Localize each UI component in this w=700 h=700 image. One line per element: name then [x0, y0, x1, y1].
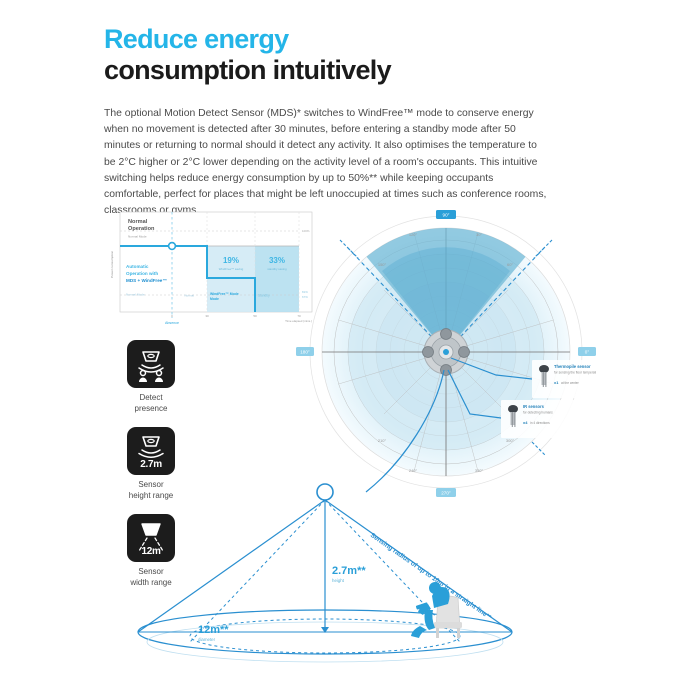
chart-subtitle-l3: MDS + WindFree™: [126, 278, 167, 283]
radar-badge-right: 0°: [585, 350, 590, 355]
chart-legend-normal-top: Normal Mode: [128, 235, 147, 239]
chart-phase-windfree: WindFree™ Mode: [210, 292, 239, 296]
radar-badge-left: 180°: [300, 350, 310, 355]
callout-count: x4: [523, 420, 528, 425]
tile-caption-line1: Detect: [139, 393, 162, 402]
cone-diameter-value: 12m**: [198, 624, 229, 636]
radar-svg: 30° 60° 120° 150° 210° 240° 300° 330° 90…: [296, 210, 596, 510]
chart-title-l1: Normal: [128, 219, 148, 225]
page-root: Reduce energy consumption intuitively Th…: [0, 0, 700, 700]
sensor-coverage-radar: 30° 60° 120° 150° 210° 240° 300° 330° 90…: [296, 210, 596, 510]
radar-callout-ir-sensors[interactable]: IR sensors for detecting humans x4 in 4 …: [501, 400, 581, 438]
chart-xtick-0: 0: [171, 314, 173, 318]
sensor-range-cone-diagram: 2.7m** height 12m** diameter Sensing rad…: [120, 470, 550, 685]
callout-count-desc: in 4 directions: [530, 421, 550, 425]
radar-tick-4: 210°: [378, 438, 387, 443]
chart-phase-normal: Normal: [184, 294, 194, 298]
chart-absence-node: [169, 243, 176, 250]
tile-caption: Detect presence: [105, 393, 197, 414]
chart-xtick-2: 50: [253, 314, 257, 318]
chart-title-l2: Operation: [128, 226, 155, 232]
callout-count: x1: [554, 380, 559, 385]
callout-desc: for sensing the floor temperature: [554, 371, 596, 375]
callout-desc: for detecting humans: [523, 411, 553, 415]
page-title: Reduce energy consumption intuitively: [104, 24, 574, 86]
chart-annotation-0-value: 19%: [223, 256, 239, 265]
cone-height-label: height: [332, 578, 345, 583]
page-title-line2: consumption intuitively: [104, 55, 574, 86]
radar-tick-3: 150°: [378, 262, 387, 267]
cone-diameter-label: diameter: [198, 637, 216, 642]
page-title-line1: Reduce energy: [104, 24, 574, 55]
tile-value: 2.7m: [127, 459, 175, 470]
feature-tile-detect-presence[interactable]: Detect presence: [105, 340, 197, 414]
radar-tick-6: 300°: [506, 438, 515, 443]
chart-svg: Power consumption Normal Operation Norma…: [104, 206, 322, 328]
chart-legend-normal-bottom: Normal Mode: [126, 293, 145, 297]
energy-consumption-chart: Power consumption Normal Operation Norma…: [104, 206, 322, 328]
chart-annotation-0-label: WindFree™ saving: [219, 267, 244, 271]
tile-caption-line2: presence: [135, 404, 168, 413]
chart-xtick-1: 30: [205, 314, 209, 318]
chart-absence-label: Absence: [165, 321, 179, 325]
radar-badge-top: 90°: [443, 213, 450, 218]
radar-tick-1: 60°: [507, 262, 513, 267]
chart-phase-standby: Standby: [258, 294, 270, 298]
chart-phase-windfree-l2: Mode: [210, 297, 219, 301]
chart-annotation-1-value: 33%: [269, 256, 285, 265]
tile-icon-box: [127, 340, 175, 388]
chart-annotation-1-label: standby saving: [267, 267, 287, 271]
cone-apex-node: [317, 484, 333, 500]
radar-tick-2: 120°: [409, 232, 418, 237]
chart-subtitle-l2: Operation with: [126, 271, 158, 276]
chart-subtitle-l1: Automatic: [126, 264, 149, 269]
callout-title: Thermopile sensor: [554, 364, 591, 369]
cone-svg: 2.7m** height 12m** diameter Sensing rad…: [120, 470, 550, 685]
chart-ylabel: Power consumption: [110, 251, 114, 278]
tile-icon-box: 2.7m: [127, 427, 175, 475]
radar-tick-0: 30°: [476, 232, 482, 237]
radar-callout-thermopile[interactable]: Thermopile sensor for sensing the floor …: [532, 360, 596, 398]
callout-count-desc: at the center: [561, 381, 580, 385]
cone-radius-label: Sensing radius of up to 10m in a straigh…: [369, 532, 493, 622]
cone-height-value: 2.7m**: [332, 565, 366, 577]
motion-sensor-people-icon: [127, 340, 175, 388]
body-paragraph: The optional Motion Detect Sensor (MDS)*…: [104, 106, 548, 219]
callout-title: IR sensors: [523, 404, 545, 409]
